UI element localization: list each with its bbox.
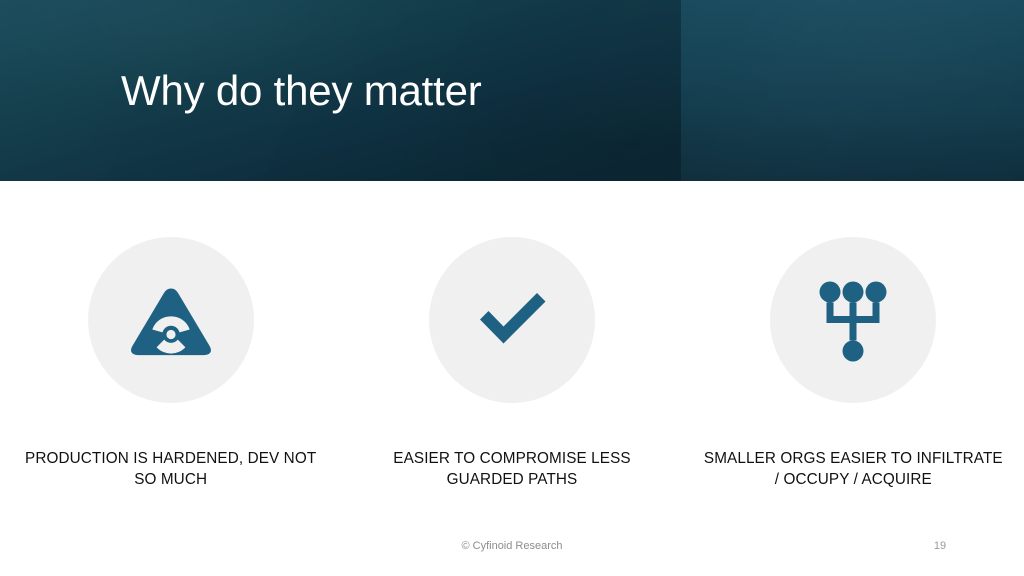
content-column-2: EASIER TO COMPROMISE LESS GUARDED PATHS — [341, 181, 682, 521]
column-caption-3: SMALLER ORGS EASIER TO INFILTRATE / OCCU… — [703, 448, 1003, 490]
slide-header-banner: Why do they matter — [0, 0, 1024, 181]
icon-circle-1 — [88, 237, 254, 403]
column-caption-1: PRODUCTION IS HARDENED, DEV NOT SO MUCH — [21, 448, 321, 490]
slide-title: Why do they matter — [121, 68, 482, 114]
slide: Why do they matter PRODUCTION IS HARDENE… — [0, 0, 1024, 576]
org-chart-hierarchy-icon — [807, 274, 899, 366]
column-caption-2: EASIER TO COMPROMISE LESS GUARDED PATHS — [362, 448, 662, 490]
header-panel-right — [681, 0, 1024, 181]
content-column-1: PRODUCTION IS HARDENED, DEV NOT SO MUCH — [0, 181, 341, 521]
checkmark-icon — [457, 265, 567, 375]
icon-circle-2 — [429, 237, 595, 403]
footer-credit: © Cyfinoid Research — [0, 540, 1024, 552]
radiation-hazard-triangle-icon — [123, 272, 219, 368]
content-column-3: SMALLER ORGS EASIER TO INFILTRATE / OCCU… — [683, 181, 1024, 521]
slide-page-number: 19 — [900, 540, 980, 552]
icon-circle-3 — [770, 237, 936, 403]
content-columns: PRODUCTION IS HARDENED, DEV NOT SO MUCH … — [0, 181, 1024, 521]
